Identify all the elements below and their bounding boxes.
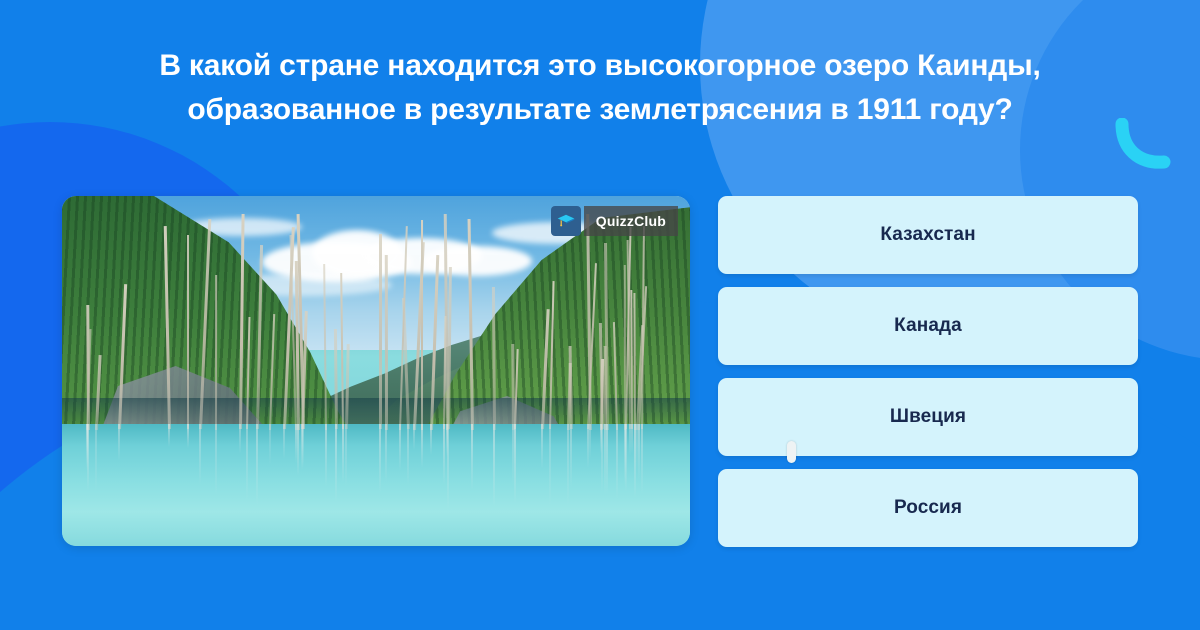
tree-trunk-reflection xyxy=(297,424,299,477)
tree-trunk xyxy=(514,349,519,429)
tree-trunk xyxy=(492,287,496,430)
question-line-1: В какой стране находится это высокогорно… xyxy=(80,44,1120,88)
tree-trunk-reflection xyxy=(471,424,473,490)
tree-trunk-reflection xyxy=(549,424,551,506)
tree-trunk xyxy=(199,219,211,429)
answer-option-3[interactable]: Швеция xyxy=(718,378,1138,456)
tree-trunk-reflection xyxy=(199,424,201,485)
tree-trunk-reflection xyxy=(421,424,423,468)
submerged-tree-trunks xyxy=(62,196,690,546)
tree-trunk-reflection xyxy=(625,424,627,492)
answer-option-1[interactable]: Казахстан xyxy=(718,196,1138,274)
tree-trunk-reflection xyxy=(493,424,495,508)
tree-trunk-reflection xyxy=(302,424,304,469)
tree-trunk-reflection xyxy=(514,424,516,504)
tree-trunk xyxy=(256,245,263,429)
tree-trunk xyxy=(421,220,423,430)
tree-trunk xyxy=(467,219,473,430)
tree-trunk xyxy=(340,273,344,429)
tree-trunk xyxy=(323,264,327,430)
tree-trunk xyxy=(163,226,170,429)
tree-trunk xyxy=(334,329,338,429)
answer-option-label: Россия xyxy=(894,497,962,519)
tree-trunk-reflection xyxy=(636,424,638,472)
watermark-brand: QuizzClub xyxy=(584,206,678,236)
tree-trunk-reflection xyxy=(600,424,602,455)
answer-option-label: Швеция xyxy=(890,406,966,428)
tree-trunk-reflection xyxy=(570,424,572,488)
tree-trunk xyxy=(215,275,217,430)
tree-trunk-reflection xyxy=(168,424,170,447)
tree-trunk-reflection xyxy=(342,424,344,483)
tree-trunk-reflection xyxy=(283,424,285,460)
graduation-cap-icon xyxy=(551,206,581,236)
lake-kaindy-photo xyxy=(62,196,690,546)
tree-trunk xyxy=(118,284,127,429)
tree-trunk xyxy=(379,234,382,429)
tree-trunk-reflection xyxy=(413,424,415,450)
tree-trunk-reflection xyxy=(541,424,543,470)
tree-trunk-reflection xyxy=(430,424,432,456)
tree-trunk-reflection xyxy=(256,424,258,506)
tree-trunk xyxy=(187,235,190,429)
answer-option-2[interactable]: Канада xyxy=(718,287,1138,365)
answer-option-4[interactable]: Россия xyxy=(718,469,1138,547)
tree-trunk-reflection xyxy=(399,424,401,471)
tree-trunk-reflection xyxy=(443,424,445,485)
tree-trunk-reflection xyxy=(385,424,387,483)
tree-trunk-reflection xyxy=(407,424,409,486)
tree-trunk-reflection xyxy=(246,424,248,501)
tree-trunk-reflection xyxy=(345,424,347,488)
tree-trunk-reflection xyxy=(269,424,271,465)
tree-trunk-reflection xyxy=(589,424,591,459)
tree-trunk-reflection xyxy=(616,424,618,500)
tree-trunk-reflection xyxy=(215,424,217,497)
tree-trunk xyxy=(631,290,633,429)
answer-options-list: Казахстан Канада Швеция Россия xyxy=(718,196,1138,547)
answer-option-label: Канада xyxy=(894,315,962,337)
tree-trunk-reflection xyxy=(325,424,327,488)
tree-trunk-reflection xyxy=(641,424,643,495)
tree-trunk-reflection xyxy=(446,424,448,457)
question-image-card: QuizzClub xyxy=(62,196,690,546)
tree-trunk xyxy=(541,309,549,429)
answer-option-label: Казахстан xyxy=(880,224,975,246)
tree-trunk-reflection xyxy=(86,424,88,471)
tree-trunk xyxy=(430,255,439,430)
tree-trunk xyxy=(549,281,555,429)
scroll-indicator[interactable] xyxy=(787,441,796,463)
tree-trunk-reflection xyxy=(606,424,608,495)
question-text: В какой стране находится это высокогорно… xyxy=(0,44,1200,132)
tree-trunk xyxy=(95,355,102,430)
tree-trunk-reflection xyxy=(239,424,241,455)
question-line-2: образованное в результате землетрясения … xyxy=(80,88,1120,132)
tree-trunk-reflection xyxy=(567,424,569,506)
tree-trunk xyxy=(613,322,618,430)
tree-trunk xyxy=(634,293,636,430)
tree-trunk-reflection xyxy=(187,424,189,449)
tree-trunk xyxy=(239,214,245,429)
tree-trunk-reflection xyxy=(631,424,633,455)
tree-trunk xyxy=(246,317,251,429)
tree-trunk xyxy=(345,344,350,430)
tree-trunk-reflection xyxy=(335,424,337,502)
tree-trunk-reflection xyxy=(295,424,297,463)
tree-trunk-reflection xyxy=(379,424,381,494)
tree-trunk-reflection xyxy=(118,424,120,461)
watermark: QuizzClub xyxy=(551,206,678,236)
tree-trunk-reflection xyxy=(95,424,97,491)
tree-trunk xyxy=(269,314,276,430)
tree-trunk xyxy=(385,255,388,430)
quiz-question-card: В какой стране находится это высокогорно… xyxy=(0,0,1200,630)
